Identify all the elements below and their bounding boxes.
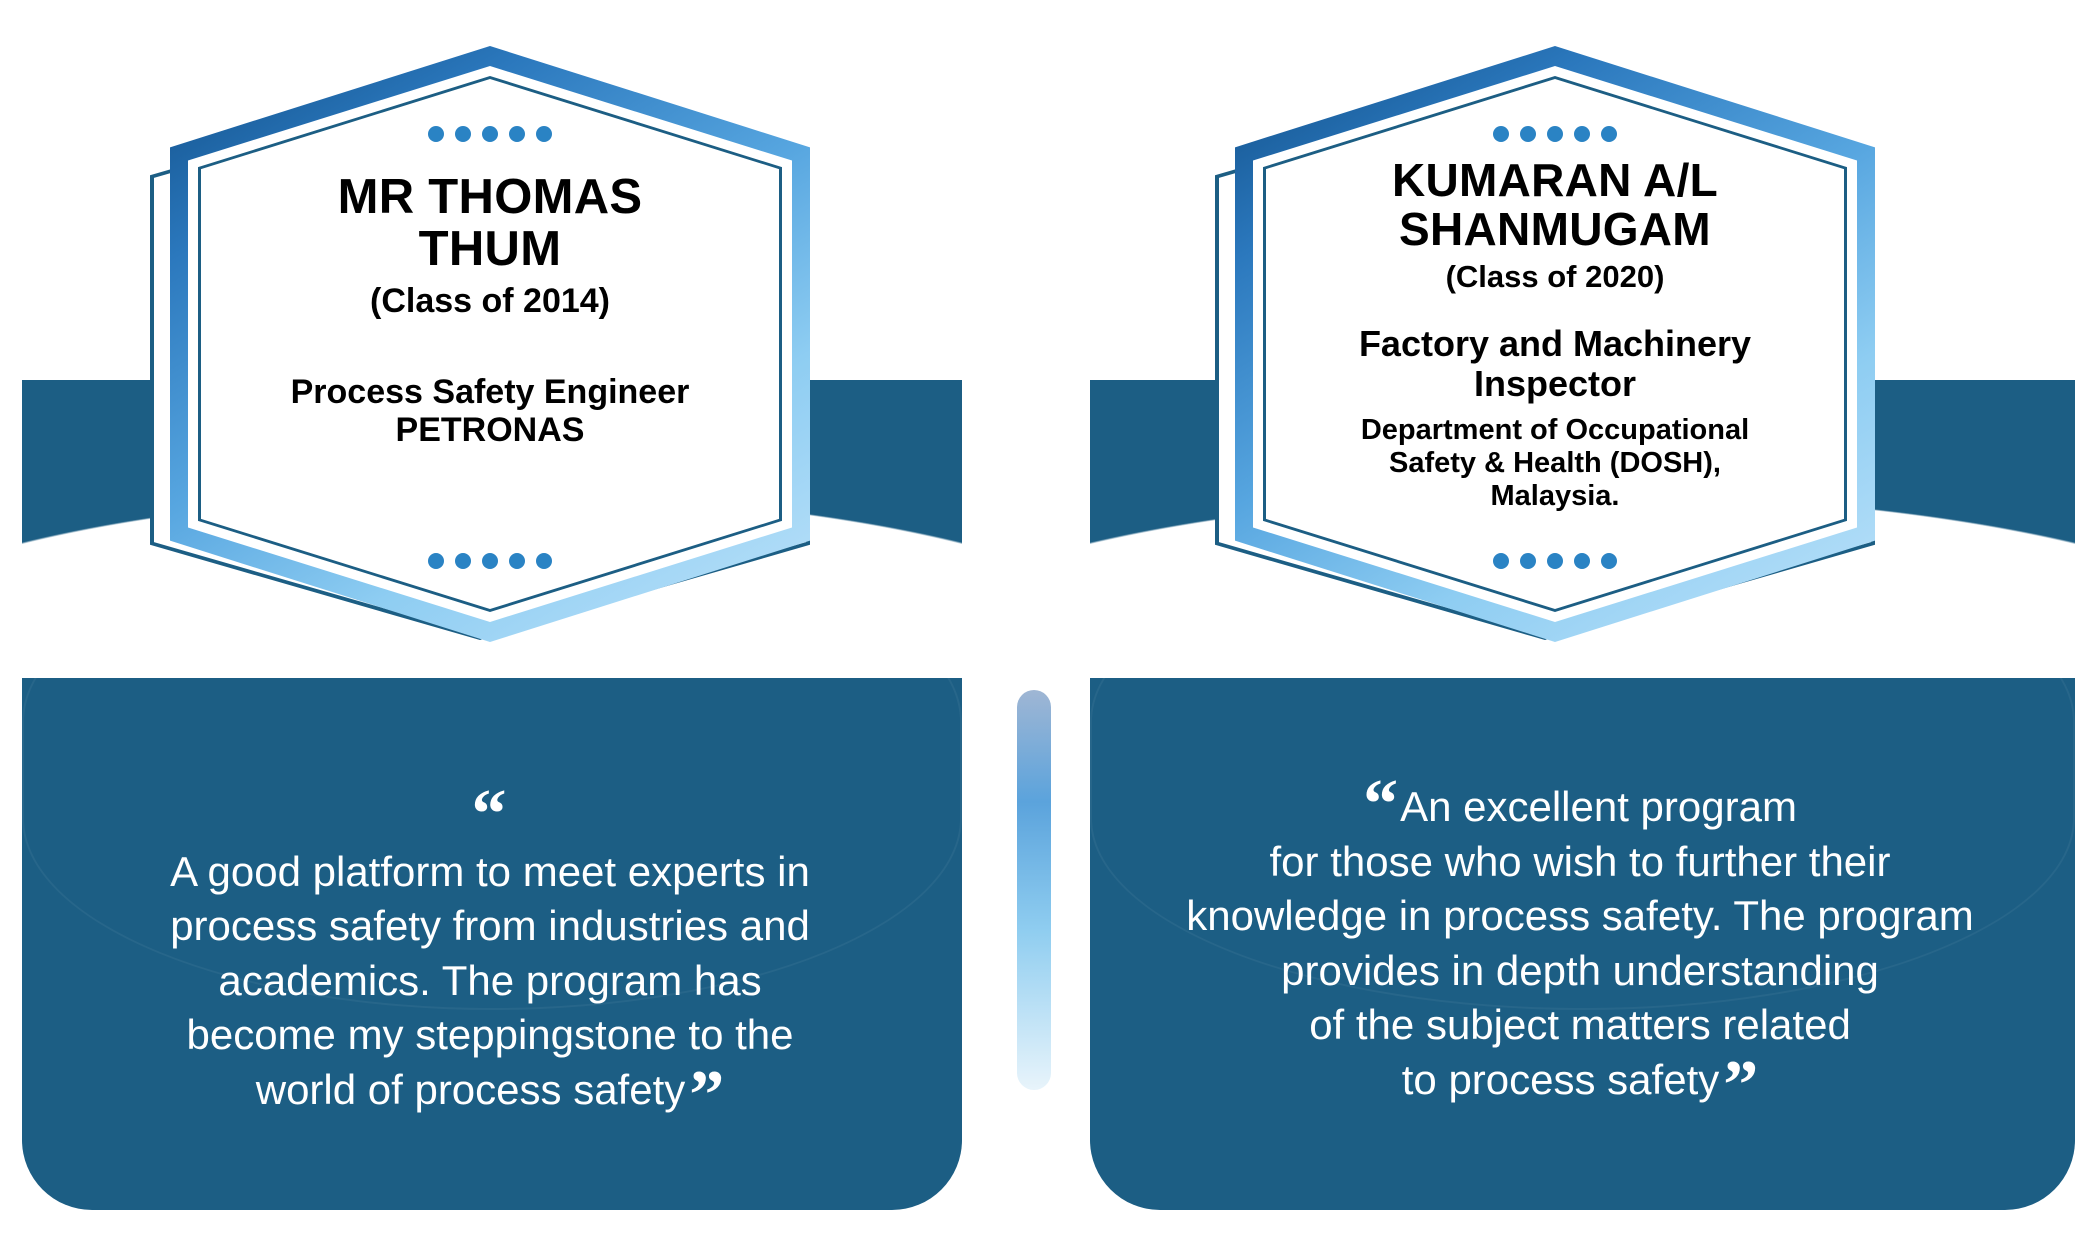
dot-icon	[1493, 126, 1509, 142]
dot-icon	[482, 553, 498, 569]
quote-line: An excellent program	[1400, 783, 1797, 830]
quote-line: world of process safety	[256, 1066, 686, 1113]
dot-icon	[428, 553, 444, 569]
quote-open-icon: “	[1363, 766, 1398, 843]
badge-content-right: KUMARAN A/L SHANMUGAM (Class of 2020) Fa…	[1285, 98, 1825, 593]
quote-open-icon: “	[472, 776, 507, 853]
dots-top-left	[428, 126, 552, 142]
badge-org-line: Safety & Health (DOSH),	[1361, 447, 1749, 480]
dot-icon	[1520, 126, 1536, 142]
dot-icon	[536, 553, 552, 569]
dot-icon	[1601, 126, 1617, 142]
badge-class-left: (Class of 2014)	[370, 282, 610, 321]
dot-icon	[455, 553, 471, 569]
quote-close-icon: ”	[689, 1057, 724, 1134]
quote-line: to process safety	[1402, 1056, 1719, 1103]
quote-line: process safety from industries and	[60, 899, 920, 954]
quote-line: provides in depth understanding	[1110, 944, 2050, 999]
quote-close-icon: ”	[1723, 1047, 1758, 1124]
quote-line: become my steppingstone to the	[60, 1008, 920, 1063]
badge-role-right: Factory and Machinery Inspector	[1359, 324, 1751, 405]
badge-name-line: THUM	[338, 224, 643, 276]
badge-name-right: KUMARAN A/L SHANMUGAM	[1392, 156, 1718, 254]
testimonials-graphic: MR THOMAS THUM (Class of 2014) Process S…	[0, 0, 2100, 1240]
dots-top-right	[1493, 126, 1617, 142]
quote-left: “A good platform to meet experts in proc…	[60, 790, 920, 1118]
badge-name-line: MR THOMAS	[338, 172, 643, 224]
dot-icon	[482, 126, 498, 142]
badge-role-line: Factory and Machinery	[1359, 324, 1751, 364]
quote-line: for those who wish to further their	[1110, 835, 2050, 890]
quote-line: knowledge in process safety. The program	[1110, 889, 2050, 944]
dots-bottom-right	[1493, 553, 1617, 569]
dot-icon	[455, 126, 471, 142]
badge-org-line: Department of Occupational	[1361, 414, 1749, 447]
dot-icon	[1574, 126, 1590, 142]
dot-icon	[1547, 553, 1563, 569]
dot-icon	[509, 126, 525, 142]
dot-icon	[1547, 126, 1563, 142]
badge-content-left: MR THOMAS THUM (Class of 2014) Process S…	[220, 98, 760, 593]
dot-icon	[1493, 553, 1509, 569]
quote-line: of the subject matters related	[1110, 998, 2050, 1053]
badge-name-line: SHANMUGAM	[1392, 205, 1718, 254]
quote-line: academics. The program has	[60, 954, 920, 1009]
badge-left: MR THOMAS THUM (Class of 2014) Process S…	[140, 18, 830, 658]
badge-name-line: KUMARAN A/L	[1392, 156, 1718, 205]
dot-icon	[1574, 553, 1590, 569]
dot-icon	[428, 126, 444, 142]
badge-right: KUMARAN A/L SHANMUGAM (Class of 2020) Fa…	[1205, 18, 1895, 658]
badge-class-right: (Class of 2020)	[1446, 259, 1665, 295]
badge-name-left: MR THOMAS THUM	[338, 172, 643, 276]
badge-org-right: Department of Occupational Safety & Heal…	[1361, 414, 1749, 513]
dot-icon	[1601, 553, 1617, 569]
center-divider	[1017, 690, 1051, 1090]
dot-icon	[1520, 553, 1536, 569]
quote-line: A good platform to meet experts in	[60, 845, 920, 900]
badge-org-line: Malaysia.	[1361, 480, 1749, 513]
quote-right: “An excellent program for those who wish…	[1110, 780, 2050, 1108]
dots-bottom-left	[428, 553, 552, 569]
badge-role-left: Process Safety Engineer	[291, 373, 690, 411]
dot-icon	[509, 553, 525, 569]
badge-org-left: PETRONAS	[396, 411, 585, 450]
dot-icon	[536, 126, 552, 142]
badge-role-line: Inspector	[1359, 364, 1751, 404]
